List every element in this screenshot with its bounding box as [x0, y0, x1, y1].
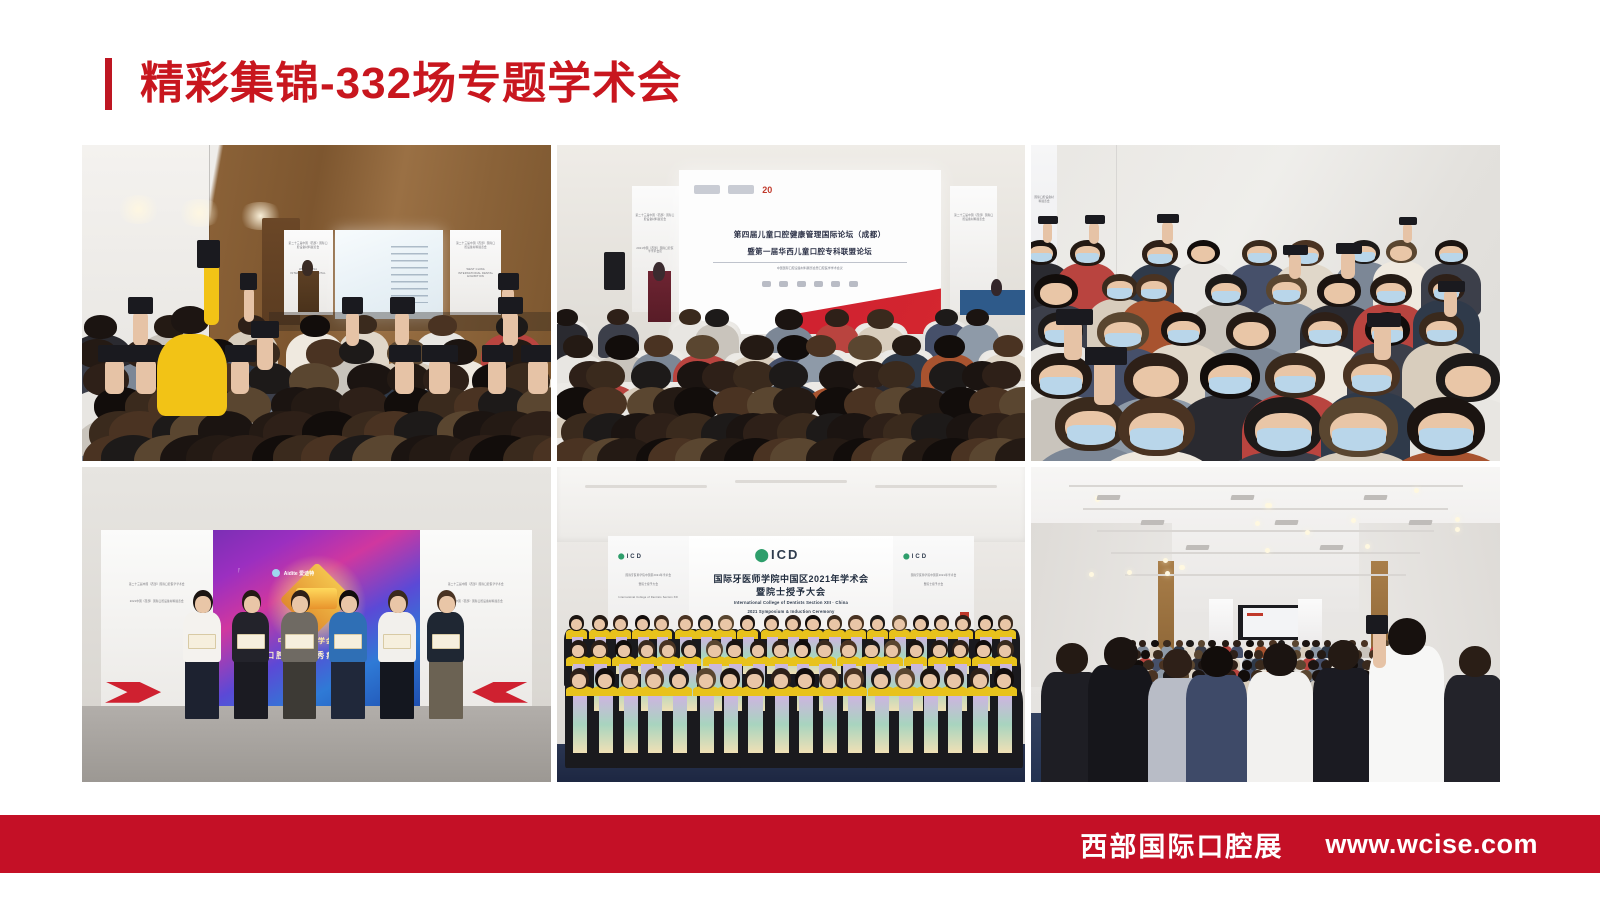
- member-face: [842, 645, 854, 657]
- face-mask: [1440, 253, 1463, 263]
- member-face: [872, 619, 883, 630]
- recipient-face: [244, 596, 260, 613]
- audience-head: [1312, 640, 1319, 647]
- gallery-photo-5[interactable]: ⬤ICD 国际牙医师学院中国区2021年学术会 暨院士授予大会 Internat…: [557, 467, 1026, 783]
- smartphone: [128, 297, 153, 314]
- certificate: [285, 634, 313, 650]
- sponsor-label: Aidite 爱迪特: [284, 570, 314, 577]
- ceiling-light: [1351, 518, 1356, 523]
- member-face: [933, 645, 945, 657]
- ceiling-vent: [1319, 545, 1344, 550]
- audience-head: [563, 335, 594, 358]
- member-face: [980, 619, 991, 630]
- audience-head: [775, 309, 803, 329]
- audience-head: [607, 309, 629, 325]
- face-mask: [1352, 375, 1390, 391]
- raised-arm: [1064, 321, 1082, 360]
- attendee-face: [1191, 246, 1215, 262]
- audience-head: [1233, 640, 1240, 647]
- smartphone: [390, 297, 415, 314]
- member-face: [723, 674, 737, 688]
- member-face: [571, 619, 582, 630]
- member-face: [829, 619, 840, 630]
- screen-title-line-1: 第四届儿童口腔健康管理国际论坛（成都）: [697, 229, 923, 240]
- sponsor-logo: [797, 281, 806, 287]
- gown-stole: [924, 696, 938, 753]
- gown-stole: [624, 696, 638, 753]
- member-face: [798, 674, 812, 688]
- raised-arm: [346, 311, 358, 346]
- footer-brand-label: 西部国际口腔展: [1080, 825, 1283, 864]
- smartphone: [422, 345, 457, 362]
- smartphone: [1366, 615, 1388, 634]
- certificate: [188, 634, 216, 650]
- face-mask: [1209, 377, 1250, 394]
- member-face: [572, 674, 586, 688]
- audience-head: [679, 309, 701, 325]
- attendee-face: [1445, 366, 1491, 397]
- gown-stole: [724, 696, 738, 753]
- ceiling-trim: [1097, 530, 1434, 532]
- raised-arm: [105, 359, 124, 394]
- attendee-face: [1324, 283, 1355, 304]
- standing-person-head: [1056, 643, 1088, 673]
- member-face: [572, 645, 584, 657]
- member-face: [822, 674, 836, 688]
- title-accent-bar: [105, 58, 112, 110]
- raised-arm: [1444, 289, 1457, 317]
- panelist-head: [991, 279, 1002, 296]
- smartphone: [197, 240, 220, 268]
- attendee-face: [1040, 283, 1072, 305]
- screen-sponsor-logos: [726, 279, 894, 290]
- raised-arm: [244, 287, 254, 322]
- member-face: [910, 645, 922, 657]
- ceiling-spot: [176, 199, 223, 227]
- sponsor-logo: [814, 281, 823, 287]
- face-mask: [1332, 428, 1386, 451]
- member-face: [680, 619, 691, 630]
- member-face: [684, 645, 696, 657]
- recipient-face: [439, 596, 455, 613]
- slide-root: 精彩集锦-332场专题学术会 第二十三届中国（西部）国际口腔设备材料展览会 WE…: [0, 0, 1600, 900]
- sponsor-logo: [849, 281, 858, 287]
- standing-person-head: [1104, 637, 1138, 670]
- member-face: [656, 619, 667, 630]
- audience-head: [935, 309, 958, 326]
- gown-stole: [599, 696, 613, 753]
- organizer-logo: [694, 185, 720, 194]
- ceiling-trim: [1069, 485, 1463, 487]
- audience-head: [171, 306, 208, 334]
- raised-arm: [231, 359, 249, 394]
- gown-stole: [775, 696, 789, 753]
- photo-4-image: 第二十三届中国（西部）国际口腔医学学术会 2021中国（西部）国际口腔设备材料展…: [82, 467, 551, 783]
- ceiling-light: [1305, 530, 1310, 535]
- ceiling-vent: [1230, 495, 1255, 500]
- backdrop-cn-line-1: 国际牙医师学院中国区2021年学术会: [696, 572, 886, 585]
- smartphone: [1399, 217, 1418, 225]
- member-face: [700, 619, 711, 630]
- raised-arm: [1341, 251, 1354, 279]
- raised-arm: [1289, 253, 1301, 279]
- ceiling-vent: [1096, 495, 1121, 500]
- audience-head: [1198, 640, 1205, 647]
- standing-person-head: [1388, 618, 1427, 655]
- audience-head: [84, 315, 117, 339]
- photo-gallery-grid: 第二十三届中国（西部）国际口腔设备材料展览会 WEST CHINA INTERN…: [82, 145, 1500, 782]
- ceiling-vent: [1363, 495, 1388, 500]
- smartphone: [1085, 215, 1106, 224]
- recipient-lower: [185, 656, 219, 719]
- member-face: [774, 674, 788, 688]
- audience-head: [769, 361, 809, 390]
- standing-person-torso: [1247, 672, 1313, 782]
- face-mask: [1148, 254, 1172, 264]
- speaker-head: [302, 260, 312, 276]
- member-face: [874, 674, 888, 688]
- sponsor-icon: [272, 569, 280, 577]
- member-face: [898, 674, 912, 688]
- ceiling-light: [1165, 571, 1170, 576]
- audience-head: [878, 361, 916, 389]
- title-label: 精彩集锦-332场专题学术会: [140, 62, 682, 106]
- member-face: [747, 674, 761, 688]
- raised-arm: [395, 311, 409, 346]
- gown-stole: [899, 696, 913, 753]
- certificate: [334, 634, 362, 650]
- member-face: [647, 674, 661, 688]
- gown-stole: [673, 696, 687, 753]
- member-face: [720, 619, 731, 630]
- smartphone: [498, 273, 518, 290]
- audience-head: [605, 335, 639, 360]
- face-mask: [1141, 289, 1166, 299]
- audience-head: [686, 335, 718, 359]
- screen-divider: [713, 262, 907, 263]
- raised-arm: [488, 359, 506, 394]
- backdrop-en-line-2: 2021 Symposium & Induction Ceremony: [689, 609, 894, 614]
- raised-arm: [1043, 222, 1053, 243]
- member-face: [774, 645, 786, 657]
- member-face: [742, 619, 753, 630]
- standing-person-head: [1328, 640, 1360, 670]
- member-face: [997, 674, 1011, 688]
- standing-person-head: [1163, 649, 1192, 677]
- raised-arm: [136, 359, 155, 394]
- side-banner-right: 第二十三届中国（西部）国际口腔设备材料展览会 WEST CHINA INTERN…: [450, 230, 502, 315]
- ceiling-light: [1179, 565, 1184, 570]
- audience-head: [993, 335, 1023, 357]
- raised-arm: [503, 311, 518, 346]
- photo-1-image: 第二十三届中国（西部）国际口腔设备材料展览会 WEST CHINA INTERN…: [82, 145, 551, 461]
- gallery-photo-4[interactable]: 第二十三届中国（西部）国际口腔医学学术会 2021中国（西部）国际口腔设备材料展…: [82, 467, 551, 783]
- face-mask: [1107, 288, 1131, 298]
- smartphone: [342, 297, 363, 314]
- gown-stole: [998, 696, 1012, 753]
- smartphone: [240, 273, 257, 290]
- audience-torso-yellow: [157, 334, 227, 416]
- member-face: [728, 645, 740, 657]
- gown-stole: [948, 696, 962, 753]
- face-mask: [1130, 428, 1182, 450]
- screen-content: [1243, 608, 1298, 637]
- smartphone: [1283, 245, 1308, 256]
- audience-head: [806, 335, 836, 357]
- smartphone: [389, 345, 422, 362]
- gown-stole: [748, 696, 762, 753]
- member-face: [947, 674, 961, 688]
- backdrop-en-line-1: International College of Dentists Sectio…: [689, 600, 894, 605]
- gown-stole: [700, 696, 714, 753]
- ceiling-vent: [1408, 520, 1433, 525]
- face-mask: [1377, 291, 1406, 303]
- audience-head: [740, 335, 774, 360]
- audience-head: [1254, 650, 1263, 659]
- gown-stole: [648, 696, 662, 753]
- screen-subtitle: 中国国际口腔设备材料展览会暨口腔医学学术会议: [705, 266, 915, 270]
- photo-2-image: 第二十三届中国（西部）国际口腔设备材料展览会 2021中国（西部）国际口腔医学学…: [557, 145, 1026, 461]
- icd-logo: ⬤ICD: [754, 547, 799, 563]
- member-face: [662, 645, 674, 657]
- member-face: [637, 619, 648, 630]
- audience-head: [982, 361, 1021, 390]
- gown-stole: [823, 696, 837, 753]
- standing-person-torso: [1444, 675, 1500, 782]
- sponsor-mark: Aidite 爱迪特: [272, 569, 314, 577]
- speaker-head: [653, 262, 665, 281]
- sponsor-logo: [779, 281, 788, 287]
- standing-person-head: [1263, 643, 1297, 676]
- smartphone: [1085, 347, 1128, 365]
- footer-url-label[interactable]: www.wcise.com: [1325, 829, 1538, 860]
- face-mask: [1076, 253, 1099, 263]
- face-mask: [1067, 425, 1115, 445]
- audience-head: [705, 309, 729, 327]
- audience-head: [644, 335, 673, 357]
- attendee-face: [1390, 246, 1412, 261]
- audience-head: [934, 335, 965, 358]
- member-face: [593, 645, 605, 657]
- audience-head: [1308, 660, 1319, 670]
- standing-person-torso: [1313, 668, 1374, 782]
- sponsor-logo: [762, 281, 771, 287]
- recipient-face: [390, 596, 406, 613]
- member-face: [847, 674, 861, 688]
- audience-head: [825, 309, 849, 327]
- smartphone: [1367, 313, 1401, 327]
- certificate: [432, 634, 460, 650]
- audience-head: [1244, 650, 1253, 659]
- raised-arm: [1089, 222, 1099, 244]
- face-mask: [1427, 330, 1457, 343]
- audience-head: [557, 309, 578, 326]
- member-face: [865, 645, 877, 657]
- exhibition-logo: [728, 185, 754, 194]
- recipient-face: [341, 596, 357, 613]
- smartphone: [521, 345, 551, 362]
- member-face: [886, 645, 898, 657]
- member-face: [623, 674, 637, 688]
- member-face: [807, 619, 818, 630]
- audience-head: [428, 315, 457, 335]
- standing-person-head: [1201, 646, 1233, 676]
- ceiling-light: [1455, 527, 1460, 532]
- presentation-screen: [1238, 605, 1304, 640]
- ceiling-vent: [1274, 520, 1299, 525]
- ceiling-slat: [875, 485, 997, 488]
- member-face: [766, 619, 777, 630]
- pa-speaker: [604, 252, 625, 290]
- smartphone: [225, 345, 256, 362]
- certificate: [383, 634, 411, 650]
- photo-3-image: 国际口腔设备材料展览会: [1031, 145, 1500, 461]
- recipient-lower: [234, 656, 268, 719]
- audience-head: [1176, 640, 1183, 647]
- smartphone: [98, 345, 131, 362]
- ceiling-light: [1163, 558, 1168, 563]
- audience-head: [1163, 640, 1170, 647]
- raised-arm: [1374, 323, 1391, 359]
- ceiling-vent: [1141, 520, 1166, 525]
- recipient-lower: [331, 656, 365, 719]
- audience-head: [892, 335, 921, 357]
- gown-stole: [573, 696, 587, 753]
- speaker-podium: [298, 271, 319, 312]
- audience-head: [586, 361, 625, 390]
- ceiling-slat: [585, 485, 707, 488]
- raised-arm: [528, 359, 548, 394]
- ceiling-light: [1267, 503, 1272, 508]
- slide-accent-bar: [1247, 613, 1262, 616]
- member-face: [999, 645, 1011, 657]
- ceiling-spot: [115, 195, 162, 223]
- screen-logo-row: 20: [694, 185, 772, 195]
- audience-head: [1151, 640, 1158, 647]
- gown-stole: [799, 696, 813, 753]
- raised-arm: [395, 359, 414, 394]
- gown-stole: [973, 696, 987, 753]
- gallery-photo-6[interactable]: [1031, 467, 1500, 783]
- audience-head: [867, 309, 894, 329]
- member-face: [954, 645, 966, 657]
- gown-stole: [875, 696, 889, 753]
- standing-person-torso: [1088, 665, 1154, 782]
- recipient-face: [292, 596, 308, 613]
- audience-head: [1317, 650, 1326, 659]
- recipient-lower: [283, 656, 317, 719]
- smartphone: [1038, 216, 1058, 224]
- screen-text-lines: [391, 246, 428, 303]
- ceiling-slat: [735, 480, 847, 483]
- photo-6-image: [1031, 467, 1500, 783]
- certificate: [237, 634, 265, 650]
- audience-head: [1186, 640, 1193, 647]
- audience-head: [300, 315, 331, 337]
- member-face: [641, 645, 653, 657]
- member-face: [618, 645, 630, 657]
- audience-head: [1302, 640, 1309, 647]
- member-face: [699, 674, 713, 688]
- member-face: [973, 674, 987, 688]
- attendee-face: [1133, 366, 1179, 397]
- audience-head: [1141, 650, 1150, 659]
- member-face: [818, 645, 830, 657]
- member-face: [894, 619, 905, 630]
- ceiling: [557, 467, 1026, 543]
- sponsor-logo: [831, 281, 840, 287]
- recipient-lower: [429, 656, 463, 719]
- standing-person-head: [1459, 646, 1491, 676]
- audience-head: [1246, 640, 1253, 647]
- member-face: [598, 674, 612, 688]
- recipient-face: [195, 596, 211, 613]
- screen-title-line-2: 暨第一届华西儿童口腔专科联盟论坛: [697, 246, 923, 257]
- audience-head: [1153, 650, 1162, 659]
- member-face: [796, 645, 808, 657]
- recipient-lower: [380, 656, 414, 719]
- footer-bar: 西部国际口腔展 www.wcise.com: [0, 815, 1600, 873]
- smartphone: [1336, 243, 1362, 254]
- member-face: [923, 674, 937, 688]
- smartphone: [498, 297, 524, 314]
- member-face: [936, 619, 947, 630]
- raised-arm: [1162, 221, 1173, 244]
- member-face: [752, 645, 764, 657]
- anniversary-badge: 20: [762, 185, 772, 195]
- gallery-photo-2[interactable]: 第二十三届中国（西部）国际口腔设备材料展览会 2021中国（西部）国际口腔医学学…: [557, 145, 1026, 461]
- member-face: [672, 674, 686, 688]
- member-face: [1000, 619, 1011, 630]
- ceiling-light: [1365, 544, 1370, 549]
- far-banner-right: [1298, 599, 1321, 646]
- face-mask: [1257, 428, 1311, 451]
- photo-5-image: ⬤ICD 国际牙医师学院中国区2021年学术会 暨院士授予大会 Internat…: [557, 467, 1026, 783]
- member-face: [850, 619, 861, 630]
- backdrop-cn-line-2: 暨院士授予大会: [696, 585, 886, 598]
- ceiling-vent: [1185, 545, 1210, 550]
- ceiling-light: [1414, 488, 1419, 493]
- face-mask: [1309, 330, 1341, 343]
- member-face: [708, 645, 720, 657]
- standing-person-torso: [1186, 675, 1247, 782]
- raised-arm: [133, 311, 148, 346]
- stage-floor: [82, 706, 551, 782]
- smartphone: [482, 345, 513, 362]
- raised-arm: [257, 335, 273, 370]
- page-title: 精彩集锦-332场专题学术会: [105, 58, 682, 110]
- raised-arm: [1403, 223, 1412, 243]
- gown-stole: [848, 696, 862, 753]
- face-mask: [1040, 377, 1082, 395]
- audience-head: [848, 335, 882, 360]
- face-mask: [1419, 428, 1472, 450]
- raised-arm: [429, 359, 449, 394]
- face-mask: [1168, 330, 1199, 343]
- member-face: [977, 645, 989, 657]
- member-face: [615, 619, 626, 630]
- audience-head: [1305, 650, 1314, 659]
- gallery-photo-3[interactable]: 国际口腔设备材料展览会: [1031, 145, 1500, 461]
- smartphone: [251, 321, 278, 338]
- gallery-photo-1[interactable]: 第二十三届中国（西部）国际口腔设备材料展览会 WEST CHINA INTERN…: [82, 145, 551, 461]
- smartphone: [1438, 281, 1465, 292]
- raised-arm: [1094, 360, 1115, 405]
- smartphone: [1157, 214, 1178, 223]
- smartphone: [1056, 309, 1093, 325]
